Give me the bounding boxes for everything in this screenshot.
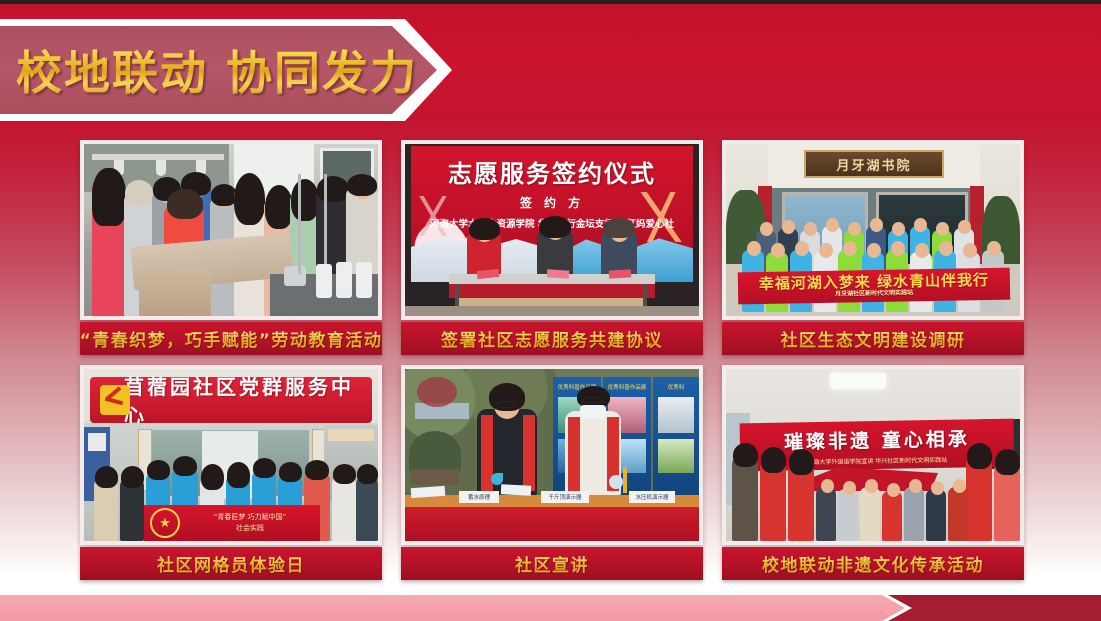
photo-card-1[interactable]: “青春织梦，巧手赋能”劳动教育活动 — [80, 140, 382, 355]
bottom-ribbon-fill — [0, 595, 905, 621]
photo-caption-5: 社区宣讲 — [401, 547, 703, 580]
photo-frame: 苜蓿园社区党群服务中心 — [80, 365, 382, 545]
photo-2-banner-subtitle: 签 约 方 — [411, 194, 693, 211]
photo-caption-4: 社区网格员体验日 — [80, 547, 382, 580]
slide-root: 校地联动 协同发力 — [0, 0, 1101, 621]
photo-card-4[interactable]: 苜蓿园社区党群服务中心 — [80, 365, 382, 580]
photo-2-image: 志愿服务签约仪式 签 约 方 河海大学水文水资源学院 华夏银行金坛支行 小红妈爱… — [405, 144, 699, 316]
top-edge-strip — [0, 0, 1101, 4]
photo-card-2[interactable]: 志愿服务签约仪式 签 约 方 河海大学水文水资源学院 华夏银行金坛支行 小红妈爱… — [401, 140, 703, 355]
photo-5-table-label-3: 水压机演示器 — [629, 491, 675, 503]
photo-frame: 璀璨非遗 童心相承 河海大学外国语学院宣讲 华兴社区新时代文明实践站 — [722, 365, 1024, 545]
photo-grid: “青春织梦，巧手赋能”劳动教育活动 志愿服务签约仪式 签 约 方 河海大学水 — [80, 140, 1024, 583]
photo-caption-1: “青春织梦，巧手赋能”劳动教育活动 — [80, 322, 382, 355]
photo-5-table-label-2: 千斤顶演示器 — [541, 491, 589, 503]
photo-frame: 志愿服务签约仪式 签 约 方 河海大学水文水资源学院 华夏银行金坛支行 小红妈爱… — [401, 140, 703, 320]
photo-5-board-title-2: 优秀科普作品展 — [606, 383, 648, 391]
photo-caption-6-text: 校地联动非遗文化传承活动 — [762, 551, 984, 576]
photo-3-plaque-text: 月牙湖书院 — [836, 155, 911, 174]
photo-4-flag-text: “青春匠梦 巧力赋中国” 社会实践 — [180, 512, 320, 534]
photo-caption-5-text: 社区宣讲 — [515, 551, 589, 576]
title-banner: 校地联动 协同发力 — [0, 19, 452, 121]
photo-caption-2-text: 签署社区志愿服务共建协议 — [441, 326, 663, 351]
photo-caption-2: 签署社区志愿服务共建协议 — [401, 322, 703, 355]
photo-caption-3: 社区生态文明建设调研 — [722, 322, 1024, 355]
photo-4-banner-title: 苜蓿园社区党群服务中心 — [124, 371, 372, 429]
photo-card-5[interactable]: 优秀科普作品展 优秀科普作品展 优秀科 — [401, 365, 703, 580]
photo-5-image: 优秀科普作品展 优秀科普作品展 优秀科 — [405, 369, 699, 541]
photo-5-board-title-3: 优秀科 — [656, 383, 696, 391]
photo-5-table-label-1: 蓄水原理 — [459, 491, 499, 503]
youth-league-emblem-icon: ★ — [150, 508, 180, 538]
photo-caption-1-text: “青春织梦，巧手赋能”劳动教育活动 — [80, 326, 383, 351]
photo-frame: 优秀科普作品展 优秀科普作品展 优秀科 — [401, 365, 703, 545]
photo-1-image — [84, 144, 378, 316]
photo-3-image: 月牙湖书院 — [726, 144, 1020, 316]
photo-6-image: 璀璨非遗 童心相承 河海大学外国语学院宣讲 华兴社区新时代文明实践站 — [726, 369, 1020, 541]
photo-2-banner-title: 志愿服务签约仪式 — [411, 154, 693, 189]
photo-card-6[interactable]: 璀璨非遗 童心相承 河海大学外国语学院宣讲 华兴社区新时代文明实践站 — [722, 365, 1024, 580]
photo-frame: 月牙湖书院 — [722, 140, 1024, 320]
page-title: 校地联动 协同发力 — [16, 39, 416, 101]
photo-caption-3-text: 社区生态文明建设调研 — [781, 326, 966, 351]
bottom-ribbon — [0, 595, 1101, 621]
photo-4-image: 苜蓿园社区党群服务中心 — [84, 369, 378, 541]
party-emblem-icon — [100, 385, 130, 415]
photo-caption-4-text: 社区网格员体验日 — [157, 551, 305, 576]
photo-card-3[interactable]: 月牙湖书院 — [722, 140, 1024, 355]
photo-frame — [80, 140, 382, 320]
photo-3-banner-subtitle: 月牙湖社区新时代文明实践站 — [835, 291, 913, 299]
photo-caption-6: 校地联动非遗文化传承活动 — [722, 547, 1024, 580]
